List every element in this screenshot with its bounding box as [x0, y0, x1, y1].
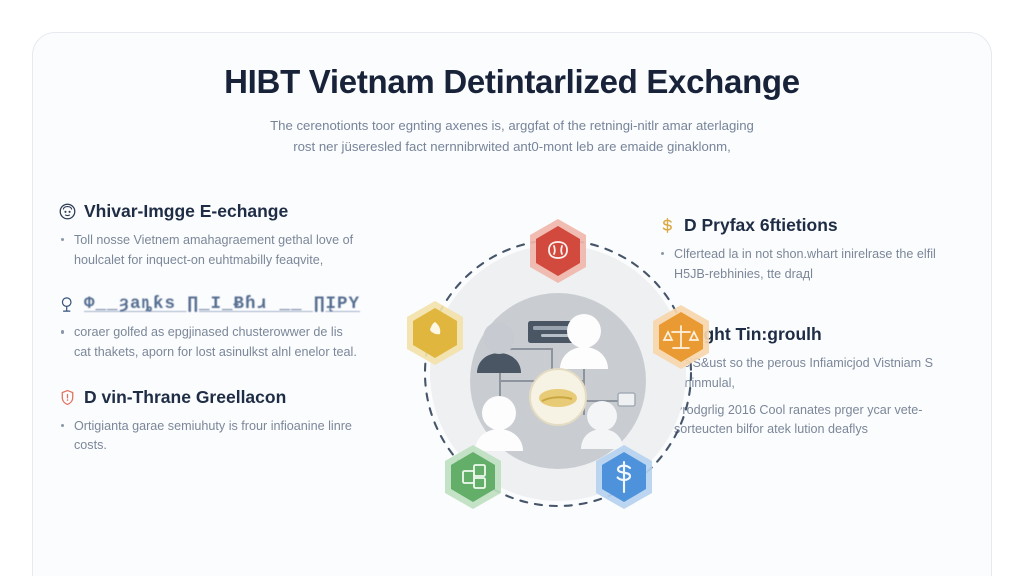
shield-alert-icon [58, 388, 77, 407]
device-icon [618, 393, 635, 406]
section-header: D vin-Thrane Greellacon [58, 387, 358, 408]
left-column: Vhivar-Imgge E-echange Toll nosse Vietne… [58, 201, 358, 480]
section-vhivar-imgge-echange: Vhivar-Imgge E-echange Toll nosse Vietne… [58, 201, 358, 270]
section-degraded-chart-heading: Ф__ȝaȵƙs ∏_I_Ƀɦɹ __ ∏ĮPY coraer golfed a… [58, 294, 358, 362]
exchange-network-diagram [388, 201, 728, 551]
bullet-item: Ortigianta garae semiuhuty is frour infi… [58, 417, 358, 456]
bullet-item: Toll nosse Vietnem amahagraement gethal … [58, 231, 358, 270]
section-title: D vin-Thrane Greellacon [84, 387, 286, 408]
infographic-canvas: HIBT Vietnam Detintarlized Exchange The … [0, 0, 1024, 576]
bullet-item: coraer golfed as epgjinased chusterowwer… [58, 323, 358, 362]
bullet-list: Ortigianta garae semiuhuty is frour infi… [58, 417, 358, 456]
section-header: Vhivar-Imgge E-echange [58, 201, 358, 222]
subtitle-line-1: The cerenotionts toor egnting axenes is,… [151, 115, 873, 136]
section-title: Vhivar-Imgge E-echange [84, 201, 288, 222]
page-title: HIBT Vietnam Detintarlized Exchange [73, 63, 951, 101]
bullet-list: Toll nosse Vietnem amahagraement gethal … [58, 231, 358, 270]
chart-glyph-icon [58, 295, 77, 314]
bull-head-icon [58, 202, 77, 221]
section-header: Ф__ȝaȵƙs ∏_I_Ƀɦɹ __ ∏ĮPY [58, 294, 358, 314]
page-subtitle: The cerenotionts toor egnting axenes is,… [151, 115, 873, 158]
header: HIBT Vietnam Detintarlized Exchange The … [33, 63, 991, 158]
section-title: Ф__ȝaȵƙs ∏_I_Ƀɦɹ __ ∏ĮPY [84, 294, 360, 314]
bullet-list: coraer golfed as epgjinased chusterowwer… [58, 323, 358, 362]
subtitle-line-2: rost ner jüseresled fact nernnibrwited a… [151, 136, 873, 157]
infographic-card: HIBT Vietnam Detintarlized Exchange The … [33, 33, 991, 576]
coin-icon [530, 369, 586, 425]
section-d-vin-thrane-greellacon: D vin-Thrane Greellacon Ortigianta garae… [58, 387, 358, 456]
